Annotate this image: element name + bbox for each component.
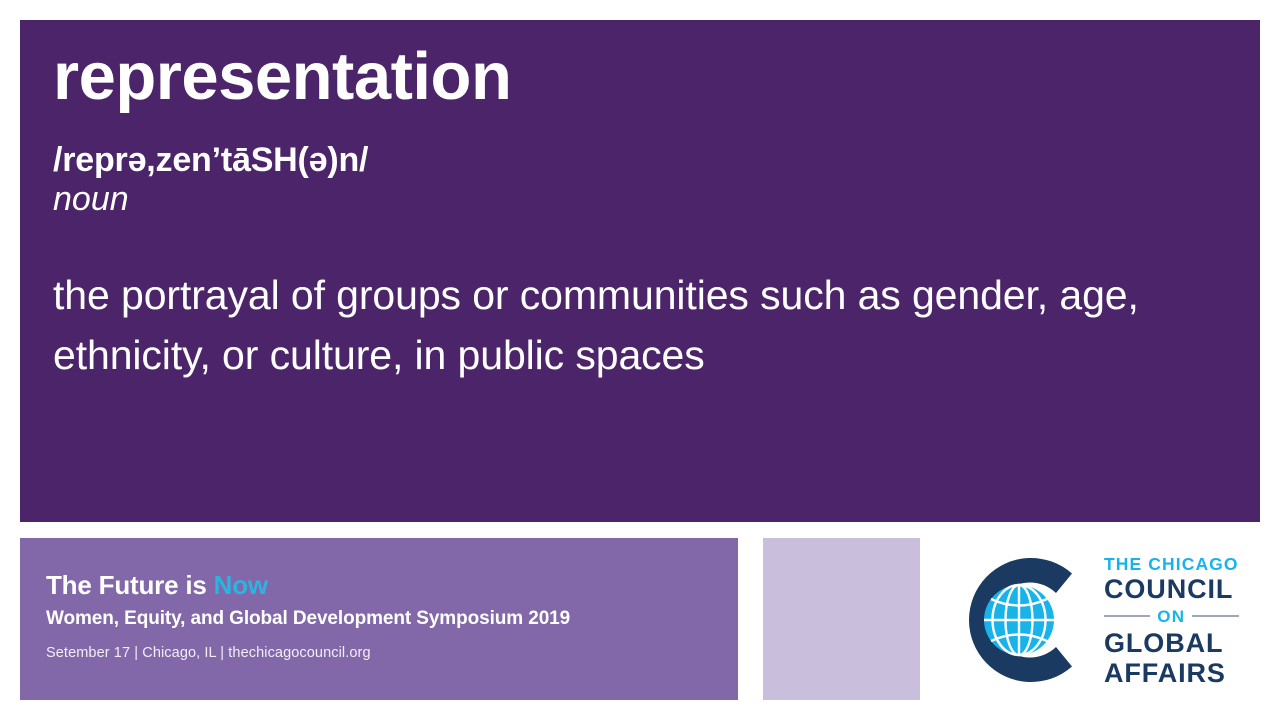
logo-on-row: ON [1104,608,1239,625]
event-subtitle: Women, Equity, and Global Development Sy… [46,608,738,631]
accent-block [763,538,920,700]
logo-line-global: GLOBAL [1104,628,1239,658]
event-title-accent: Now [214,570,268,600]
event-title: The Future is Now [46,570,738,601]
logo-line-affairs: AFFAIRS [1104,658,1239,688]
event-meta: Setember 17 | Chicago, IL | thechicagoco… [46,645,738,662]
page-title: representation [53,42,1220,112]
logo-line-on: ON [1157,608,1185,625]
chicago-council-c-globe-icon [946,544,1098,696]
definition-panel: representation /reprə,zen’tāSH(ə)n/ noun… [20,20,1260,522]
definition-text: the portrayal of groups or communities s… [53,265,1220,386]
pronunciation-text: /reprə,zen’tāSH(ə)n/ [53,141,1220,179]
logo-rule-right [1192,615,1238,617]
chicago-council-logo: THE CHICAGO COUNCIL ON GLOBAL AFFAIRS [946,540,1264,700]
event-title-main: The Future is [46,570,214,600]
logo-rule-left [1104,615,1150,617]
logo-wordmark: THE CHICAGO COUNCIL ON GLOBAL AFFAIRS [1104,552,1239,688]
event-info-band: The Future is Now Women, Equity, and Glo… [20,538,738,700]
logo-line-council: COUNCIL [1104,574,1239,604]
part-of-speech-label: noun [53,180,1220,218]
logo-line-the-chicago: THE CHICAGO [1104,554,1239,575]
